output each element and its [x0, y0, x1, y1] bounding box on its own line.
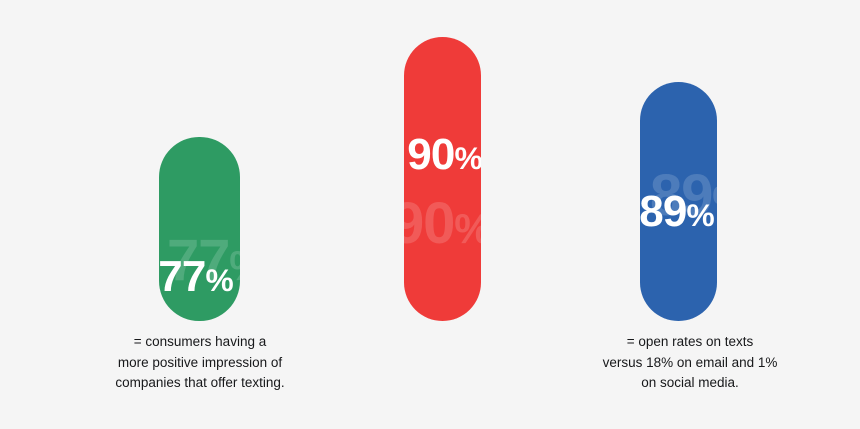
value-number-red: 90: [407, 130, 454, 179]
bar-blue: 89% 89%: [640, 82, 717, 321]
bar-red: 90% 90%: [404, 37, 481, 321]
bar-value-ghost-red: 90%: [404, 195, 469, 253]
value-percent-green: %: [205, 262, 232, 298]
bar-value-label-blue: 89%: [640, 190, 715, 234]
ghost-percent-red: %: [454, 205, 481, 252]
bar-value-label-red: 90%: [406, 133, 481, 177]
bar-green: 77% 77%: [159, 137, 240, 321]
value-percent-red: %: [454, 140, 481, 176]
value-percent-blue: %: [686, 197, 713, 233]
bar-value-label-green: 77%: [159, 255, 236, 299]
ghost-number-red: 90: [404, 191, 454, 256]
stat-column-blue: 89% 89% = customers who prefer texting a…: [480, 0, 860, 429]
infographic-canvas: 77% 77% = consumers having a more positi…: [0, 0, 860, 429]
value-number-blue: 89: [640, 187, 686, 236]
value-number-green: 77: [159, 252, 205, 301]
